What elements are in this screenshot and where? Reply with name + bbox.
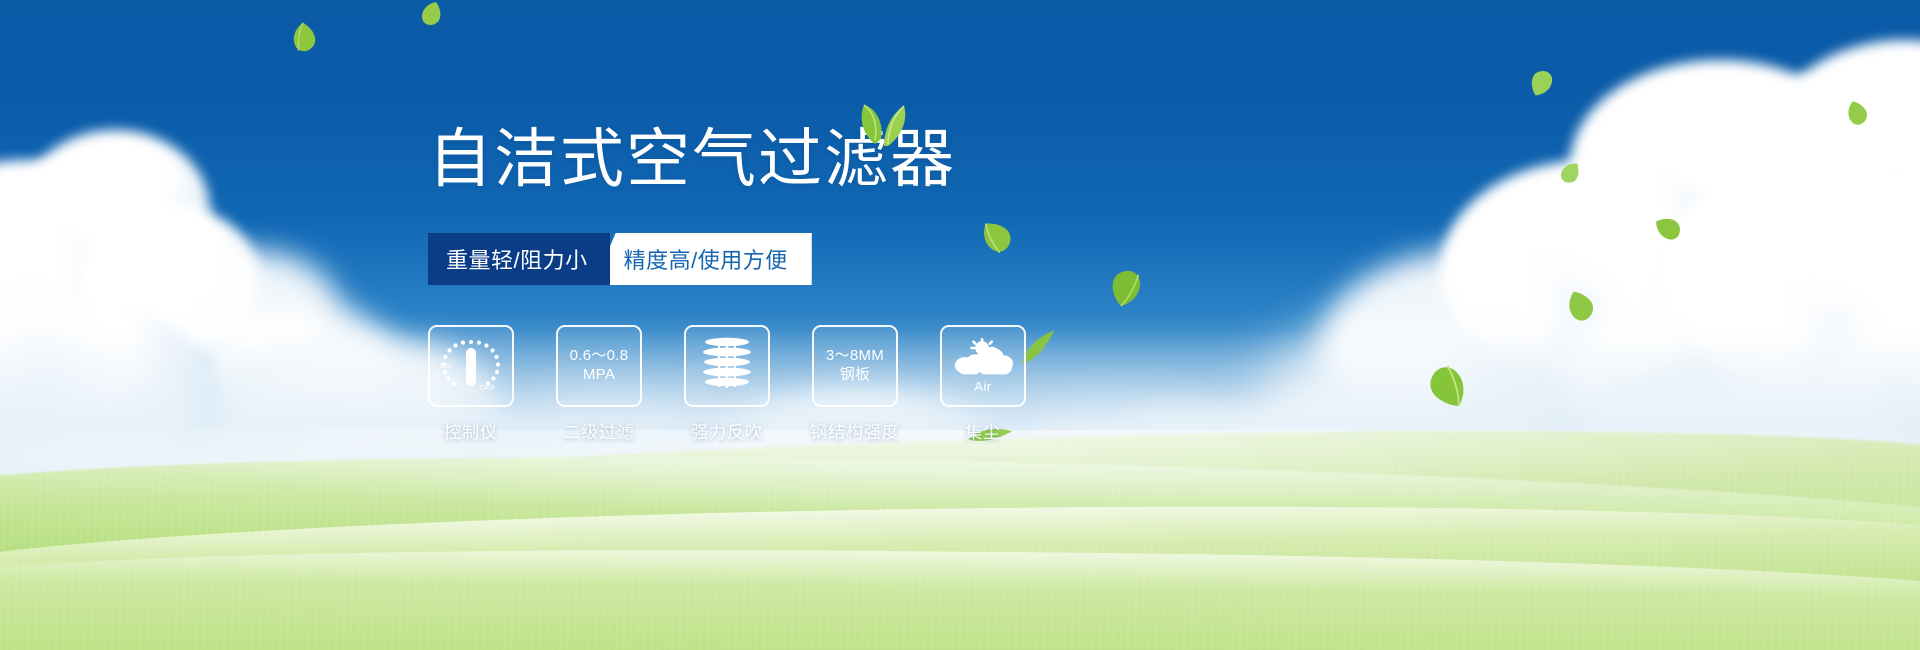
feature-item[interactable]: 0.6～0.8 MPA 二级过滤	[556, 325, 642, 443]
pressure-line-2: MPA	[583, 366, 615, 383]
feature-icon-box: Air	[940, 325, 1026, 407]
gauge-icon: NO OFF	[436, 335, 506, 397]
feature-label: 钢结构强度	[810, 418, 900, 443]
feature-item[interactable]: 3～8MM 钢板 钢结构强度	[812, 325, 898, 443]
feature-icon-box: 3～8MM 钢板	[812, 325, 898, 407]
filter-stack-icon	[697, 333, 757, 400]
subtitle-tabs: 重量轻/阻力小 精度高/使用方便	[428, 233, 812, 285]
feature-label: 集尘	[965, 418, 1001, 443]
feature-label: 二级过滤	[563, 418, 635, 443]
feature-list: NO OFF 控制仪 0.6～0.8 MPA 二级过滤	[428, 325, 1026, 443]
feature-icon-box: NO OFF	[428, 325, 514, 407]
feature-label: 控制仪	[444, 418, 498, 443]
tab-label: 精度高/使用方便	[624, 243, 788, 275]
steel-line-1: 3～8MM	[826, 347, 884, 364]
gauge-label-off: OFF	[480, 383, 495, 392]
air-label: Air	[974, 379, 991, 394]
two-leaves-icon	[844, 90, 914, 146]
title-block: 自洁式空气过滤器	[428, 128, 956, 192]
gauge-label-no: NO	[440, 361, 451, 370]
air-cloud-icon: Air	[947, 335, 1019, 397]
feature-item[interactable]: 强力反吹	[684, 325, 770, 443]
tab-weight-resistance[interactable]: 重量轻/阻力小	[428, 233, 610, 285]
feature-item[interactable]: Air 集尘	[940, 325, 1026, 443]
feature-icon-box: 0.6～0.8 MPA	[556, 325, 642, 407]
steel-line-2: 钢板	[840, 366, 871, 383]
feature-icon-box	[684, 325, 770, 407]
pressure-line-1: 0.6～0.8	[570, 347, 629, 364]
pressure-text-icon: 0.6～0.8 MPA	[570, 347, 629, 385]
tab-label: 重量轻/阻力小	[446, 243, 588, 275]
tab-precision-convenience[interactable]: 精度高/使用方便	[594, 233, 812, 285]
feature-label: 强力反吹	[691, 418, 763, 443]
steel-plate-text-icon: 3～8MM 钢板	[826, 347, 884, 385]
feature-item[interactable]: NO OFF 控制仪	[428, 325, 514, 443]
banner-content: 自洁式空气过滤器 重量轻/阻力小 精度高/使用方便	[0, 0, 1920, 650]
promo-banner: 自洁式空气过滤器 重量轻/阻力小 精度高/使用方便	[0, 0, 1920, 650]
